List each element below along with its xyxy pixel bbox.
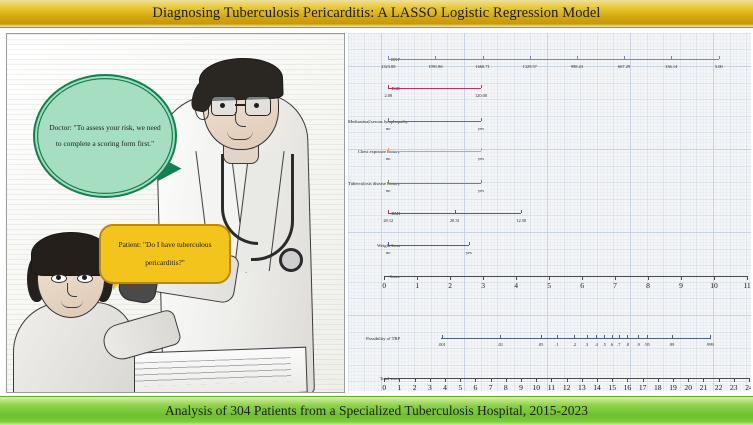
nomogram-tick (481, 148, 482, 151)
nomogram-tick (469, 242, 470, 245)
nomogram-tick-label: .8 (626, 342, 629, 347)
nomogram-tick-label: 1 (415, 281, 419, 290)
header-bar: Diagnosing Tuberculosis Pericarditis: A … (0, 0, 753, 28)
nomogram-tick-label: .1 (555, 342, 558, 347)
nomogram-tick (516, 276, 517, 280)
nomogram-tick (673, 378, 674, 382)
nomogram-tick (557, 335, 558, 338)
nomogram-tick (734, 378, 735, 382)
nomogram-tick (415, 378, 416, 382)
nomogram-tick-label: 4 (443, 383, 447, 392)
page-subtitle: Analysis of 304 Patients from a Speciali… (165, 403, 588, 419)
nomogram-tick (506, 378, 507, 382)
nomogram-tick (703, 378, 704, 382)
patient-pupil-right (82, 275, 87, 280)
nomogram-tick (612, 335, 613, 338)
nomogram-tick-label: 8 (504, 383, 508, 392)
nomogram-tick (596, 335, 597, 338)
doctor-speech-text: Doctor: "To assess your risk, we need to… (49, 120, 161, 152)
nomogram-tick-label: 15 (608, 383, 616, 392)
nomogram-tick-label: .99 (669, 342, 675, 347)
nomogram-tick (483, 56, 484, 59)
nomogram-tick-label: no (386, 156, 390, 161)
nomogram-tick (627, 335, 628, 338)
nomogram-tick (521, 210, 522, 213)
nomogram-tick (541, 335, 542, 338)
nomogram-tick-label: 17 (639, 383, 647, 392)
nomogram-tick-label: 2323.08 (381, 64, 395, 69)
nomogram-tick-label: .6 (610, 342, 613, 347)
nomogram-tick-label: 24 (745, 383, 751, 392)
nomogram-tick-label: 18 (654, 383, 662, 392)
nomogram-tick (417, 276, 418, 280)
nomogram-tick (430, 378, 431, 382)
nomogram-tick (536, 378, 537, 382)
nomogram-tick-label: 10 (710, 281, 718, 290)
nomogram-row-label: Chest exposure history (348, 149, 402, 155)
nomogram-tick-label: .7 (617, 342, 620, 347)
doctor-speech-bubble: Doctor: "To assess your risk, we need to… (33, 74, 177, 198)
nomogram-axis-line (388, 151, 481, 152)
nomogram-tick (719, 378, 720, 382)
nomogram-chart: BNP2323.081991.861660.711329.57998.43667… (348, 33, 751, 391)
nomogram-tick-label: 5.00 (715, 64, 723, 69)
nomogram-tick (500, 335, 501, 338)
nomogram-tick (460, 378, 461, 382)
nomogram-tick (455, 210, 456, 213)
nomogram-axis-line (388, 245, 469, 246)
nomogram-tick-label: 336.14 (665, 64, 677, 69)
nomogram-tick (384, 378, 385, 382)
nomogram-tick-label: .2 (573, 342, 576, 347)
nomogram-tick-label: 28.12 (383, 218, 393, 223)
nomogram-tick (749, 378, 750, 382)
nomogram-tick-label: 120.00 (475, 93, 487, 98)
nomogram-tick (530, 56, 531, 59)
nomogram-tick-label: 14 (593, 383, 601, 392)
nomogram-tick-label: 1991.86 (428, 64, 442, 69)
nomogram-tick-label: 3 (481, 281, 485, 290)
patient-speech-bubble: Patient: "Do I have tuberculous pericard… (99, 224, 231, 284)
nomogram-tick (521, 378, 522, 382)
nomogram-tick-label: .05 (538, 342, 544, 347)
nomogram-tick-label: 1660.71 (475, 64, 489, 69)
nomogram-tick (450, 276, 451, 280)
nomogram-tick-label: 1329.57 (523, 64, 537, 69)
nomogram-tick (582, 276, 583, 280)
nomogram-tick-label: 21 (700, 383, 708, 392)
nomogram-tick (481, 85, 482, 88)
nomogram-tick (567, 378, 568, 382)
nomogram-tick-label: .999 (706, 342, 714, 347)
nomogram-tick-label: yes (478, 126, 484, 131)
nomogram-tick-label: 0 (382, 383, 386, 392)
nomogram-tick-label: 6 (474, 383, 478, 392)
nomogram-tick-label: 12 (563, 383, 571, 392)
nomogram-tick-label: 2 (448, 281, 452, 290)
nomogram-tick (672, 335, 673, 338)
nomogram-row-label: Mediastinal/serous lymphopathy (348, 119, 402, 125)
nomogram-row-label: Tuberculosis disease history (348, 181, 402, 187)
nomogram-row-label: BMI (348, 211, 402, 217)
nomogram-tick-label: 2.00 (384, 93, 392, 98)
doctor-nose (235, 112, 246, 127)
nomogram-tick (612, 378, 613, 382)
nomogram-tick (388, 118, 389, 121)
footer-bar: Analysis of 304 Patients from a Speciali… (0, 396, 753, 425)
nomogram-tick (604, 335, 605, 338)
nomogram-tick-label: .5 (603, 342, 606, 347)
nomogram-tick-label: 9 (679, 281, 683, 290)
illustration-panel: Doctor: "To assess your risk, we need to… (6, 33, 345, 393)
nomogram-tick (442, 335, 443, 338)
nomogram-axis-line (388, 183, 481, 184)
nomogram-tick-label: 667.29 (618, 64, 630, 69)
nomogram-tick-label: 9 (519, 383, 523, 392)
nomogram-axis-line (388, 59, 718, 60)
patient-pupil-left (56, 275, 61, 280)
nomogram-tick (714, 276, 715, 280)
nomogram-tick (481, 180, 482, 183)
nomogram-tick-label: 13 (578, 383, 586, 392)
nomogram-tick-label: 1 (398, 383, 402, 392)
nomogram-tick-label: yes (478, 188, 484, 193)
nomogram-tick (549, 276, 550, 280)
nomogram-tick (688, 378, 689, 382)
nomogram-tick-label: 998.43 (571, 64, 583, 69)
nomogram-tick (648, 276, 649, 280)
doctor-eye-left (220, 103, 225, 108)
nomogram-tick-label: 19 (669, 383, 677, 392)
nomogram-tick-label: 20.31 (450, 218, 460, 223)
nomogram-tick-label: 11 (743, 281, 750, 290)
nomogram-axis-line (384, 276, 747, 277)
nomogram-axis-line (388, 121, 481, 122)
nomogram-tick-label: 6 (580, 281, 584, 290)
nomogram-tick (747, 276, 748, 280)
doctor-glasses-bridge (235, 104, 245, 106)
nomogram-tick-label: 16 (624, 383, 632, 392)
nomogram-tick-label: .4 (595, 342, 598, 347)
nomogram-row-label: ESR (348, 86, 402, 92)
nomogram-row-label: Weight Loss (348, 243, 402, 249)
page-title: Diagnosing Tuberculosis Pericarditis: A … (152, 5, 600, 22)
nomogram-tick-label: .95 (644, 342, 650, 347)
nomogram-tick-label: yes (478, 156, 484, 161)
nomogram-tick (551, 378, 552, 382)
nomogram-tick-label: 5 (547, 281, 551, 290)
nomogram-tick-label: no (386, 188, 390, 193)
nomogram-axis-line (388, 88, 481, 89)
nomogram-tick (399, 378, 400, 382)
nomogram-tick (582, 378, 583, 382)
nomogram-tick (577, 56, 578, 59)
nomogram-tick-label: 23 (730, 383, 738, 392)
patient-speech-text: Patient: "Do I have tuberculous pericard… (106, 236, 224, 272)
nomogram-tick (671, 56, 672, 59)
nomogram-tick (491, 378, 492, 382)
nomogram-tick-label: 12.50 (516, 218, 526, 223)
nomogram-axis-line (388, 213, 521, 214)
nomogram-tick (597, 378, 598, 382)
nomogram-row-label: BNP (348, 57, 402, 63)
nomogram-tick (481, 118, 482, 121)
nomogram-tick (388, 242, 389, 245)
nomogram-tick (445, 378, 446, 382)
nomogram-tick-label: 5 (458, 383, 462, 392)
nomogram-tick-label: 7 (489, 383, 493, 392)
poster-frame: Diagnosing Tuberculosis Pericarditis: A … (0, 0, 753, 424)
nomogram-row-label: Total score (348, 376, 402, 382)
nomogram-tick-label: 10 (532, 383, 540, 392)
nomogram-tick (384, 276, 385, 280)
nomogram-tick (388, 210, 389, 213)
nomogram-tick-label: 22 (715, 383, 723, 392)
nomogram-tick-label: 20 (684, 383, 692, 392)
nomogram-tick-label: 4 (514, 281, 518, 290)
nomogram-tick (681, 276, 682, 280)
nomogram-tick-label: 2 (413, 383, 417, 392)
nomogram-tick-label: .9 (637, 342, 640, 347)
nomogram-tick-label: 0 (382, 281, 386, 290)
nomogram-tick (388, 148, 389, 151)
nomogram-tick (388, 180, 389, 183)
nomogram-tick (483, 276, 484, 280)
patient-nose (67, 283, 77, 297)
nomogram-tick (435, 56, 436, 59)
nomogram-tick (475, 378, 476, 382)
nomogram-tick (710, 335, 711, 338)
nomogram-axis-line (441, 338, 711, 339)
nomogram-tick-label: .3 (585, 342, 588, 347)
nomogram-tick-label: no (386, 126, 390, 131)
nomogram-tick (627, 378, 628, 382)
doctor-eye-right (254, 103, 259, 108)
stethoscope-bell (279, 248, 303, 272)
nomogram-tick (719, 56, 720, 59)
nomogram-tick (587, 335, 588, 338)
nomogram-tick-label: .01 (498, 342, 504, 347)
nomogram-tick (615, 276, 616, 280)
nomogram-tick-label: 8 (646, 281, 650, 290)
nomogram-tick-label: yes (466, 250, 472, 255)
nomogram-row-label: Score (348, 274, 402, 280)
nomogram-tick (388, 85, 389, 88)
nomogram-tick-label: no (386, 250, 390, 255)
nomogram-tick-label: 11 (548, 383, 555, 392)
nomogram-tick (658, 378, 659, 382)
nomogram-tick-label: 7 (613, 281, 617, 290)
nomogram-tick (647, 335, 648, 338)
nomogram-tick (638, 335, 639, 338)
nomogram-tick (388, 56, 389, 59)
nomogram-tick-label: 3 (428, 383, 432, 392)
nomogram-row-label: Possibility of TBP (348, 336, 402, 342)
nomogram-tick-label: .001 (438, 342, 446, 347)
nomogram-tick (574, 335, 575, 338)
nomogram-tick (619, 335, 620, 338)
nomogram-tick (624, 56, 625, 59)
nomogram-tick (643, 378, 644, 382)
